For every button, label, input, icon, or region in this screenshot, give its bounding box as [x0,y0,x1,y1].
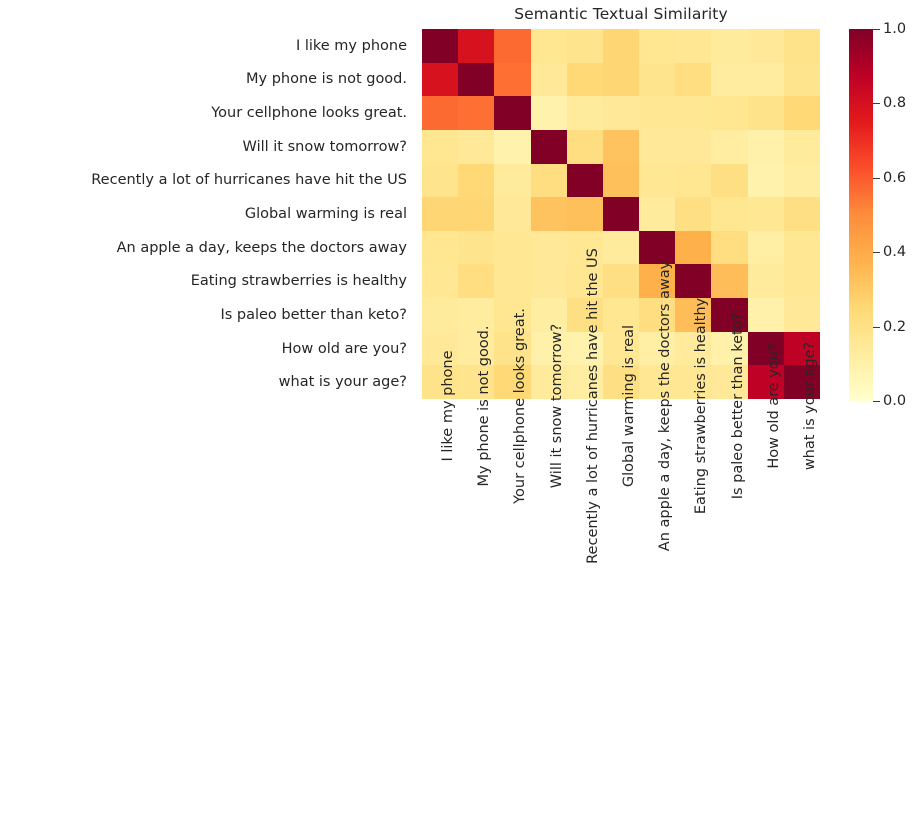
heatmap-cell [567,164,603,198]
heatmap-cell [458,197,494,231]
x-axis-tick-label: Is paleo better than keto? [730,313,746,500]
heatmap-cell [711,29,747,63]
heatmap-cell [494,29,530,63]
heatmap-cell [639,130,675,164]
colorbar-tick-label: 0.4 [883,244,906,260]
heatmap-cell [603,63,639,97]
y-axis-tick-label: Recently a lot of hurricanes have hit th… [0,164,415,198]
heatmap-cell [711,164,747,198]
heatmap-cell [494,231,530,265]
heatmap-cell [748,63,784,97]
heatmap-cell [422,164,458,198]
y-axis-labels: I like my phoneMy phone is not good.Your… [0,29,415,399]
heatmap-cell [531,164,567,198]
heatmap-cell [494,96,530,130]
heatmap-cell [639,29,675,63]
x-axis-tick-label: Global warming is real [621,325,637,487]
heatmap-cell [422,96,458,130]
colorbar-tick [873,327,880,328]
heatmap-cell [675,164,711,198]
heatmap-cell [784,29,820,63]
heatmap-cell [784,298,820,332]
x-axis-tick-slot: Eating strawberries is healthy [675,399,711,659]
heatmap-cell [639,63,675,97]
heatmap-cell [422,264,458,298]
heatmap-cell [458,130,494,164]
heatmap-cell [458,96,494,130]
heatmap-cell [494,264,530,298]
heatmap-cell [639,96,675,130]
heatmap-cell [784,130,820,164]
heatmap-cell [531,197,567,231]
heatmap-cell [494,63,530,97]
heatmap-cell [748,197,784,231]
heatmap-cell [458,231,494,265]
heatmap-cell [458,264,494,298]
x-axis-tick-slot: Global warming is real [603,399,639,659]
heatmap-cell [531,96,567,130]
heatmap-cell [422,197,458,231]
heatmap-cell [748,264,784,298]
heatmap-cell [748,29,784,63]
y-axis-tick-label: An apple a day, keeps the doctors away [0,231,415,265]
heatmap-cell [567,29,603,63]
x-axis-tick-slot: Your cellphone looks great. [494,399,530,659]
x-axis-tick-label: How old are you? [766,343,782,468]
heatmap-cell [603,197,639,231]
heatmap-cell [531,264,567,298]
heatmap-cell [603,130,639,164]
heatmap-cell [603,96,639,130]
colorbar-tick-label: 1.0 [883,21,906,37]
colorbar-tick [873,252,880,253]
heatmap-cell [711,231,747,265]
colorbar-tick [873,103,880,104]
colorbar-tick-label: 0.0 [883,393,906,409]
heatmap-cell [494,164,530,198]
x-axis-tick-slot: My phone is not good. [458,399,494,659]
heatmap-cell [422,63,458,97]
y-axis-tick-label: I like my phone [0,29,415,63]
heatmap-cell [748,231,784,265]
heatmap-cell [458,164,494,198]
heatmap-cell [748,130,784,164]
heatmap-cell [567,63,603,97]
heatmap-cell [531,130,567,164]
y-axis-tick-label: Will it snow tomorrow? [0,130,415,164]
heatmap-cell [531,29,567,63]
x-axis-tick-label: I like my phone [440,350,456,461]
colorbar-tick-label: 0.8 [883,95,906,111]
x-axis-tick-label: Recently a lot of hurricanes have hit th… [585,248,601,564]
heatmap-cell [784,264,820,298]
heatmap-cell [675,130,711,164]
heatmap-cell [567,130,603,164]
y-axis-tick-label: what is your age? [0,365,415,399]
x-axis-tick-label: My phone is not good. [476,326,492,487]
y-axis-tick-label: Global warming is real [0,197,415,231]
heatmap-cell [603,264,639,298]
heatmap-cell [748,96,784,130]
heatmap-cell [458,63,494,97]
heatmap-cell [422,298,458,332]
heatmap-cell [711,197,747,231]
colorbar-tick-label: 0.6 [883,170,906,186]
heatmap-cell [711,96,747,130]
heatmap-cell [494,130,530,164]
x-axis-tick-slot: How old are you? [748,399,784,659]
page-title: Semantic Textual Similarity [422,5,820,23]
heatmap-cell [711,264,747,298]
heatmap-cell [711,130,747,164]
x-axis-tick-slot: what is your age? [784,399,820,659]
x-axis-tick-label: Will it snow tomorrow? [549,324,565,488]
heatmap-cell [603,164,639,198]
x-axis-labels: I like my phoneMy phone is not good.Your… [422,399,820,659]
heatmap-cell [494,197,530,231]
x-axis-tick-slot: Recently a lot of hurricanes have hit th… [567,399,603,659]
heatmap-cell [639,197,675,231]
x-axis-tick-label: An apple a day, keeps the doctors away [657,261,673,551]
heatmap-cell [422,231,458,265]
heatmap-cell [422,29,458,63]
heatmap-cell [458,29,494,63]
heatmap-cell [531,231,567,265]
heatmap-cell [784,231,820,265]
x-axis-tick-label: Eating strawberries is healthy [693,298,709,514]
heatmap-cell [748,298,784,332]
heatmap-cell [639,164,675,198]
x-axis-tick-slot: Will it snow tomorrow? [531,399,567,659]
heatmap-cell [567,96,603,130]
x-axis-tick-label: what is your age? [802,342,818,470]
colorbar-tick [873,401,880,402]
x-axis-tick-slot: Is paleo better than keto? [711,399,747,659]
heatmap-cell [675,264,711,298]
x-axis-tick-slot: An apple a day, keeps the doctors away [639,399,675,659]
heatmap-cell [748,164,784,198]
y-axis-tick-label: Your cellphone looks great. [0,96,415,130]
heatmap-cell [603,231,639,265]
heatmap-cell [531,63,567,97]
colorbar-gradient [849,29,873,401]
heatmap-cell [675,63,711,97]
colorbar: 1.00.80.60.40.20.0 [849,29,915,401]
heatmap-figure: Semantic Textual Similarity I like my ph… [0,0,915,826]
y-axis-tick-label: Is paleo better than keto? [0,298,415,332]
heatmap-cell [675,29,711,63]
heatmap-cell [784,197,820,231]
heatmap-cell [639,231,675,265]
heatmap-cell [603,29,639,63]
colorbar-tick [873,178,880,179]
y-axis-tick-label: Eating strawberries is healthy [0,264,415,298]
heatmap-cell [675,231,711,265]
heatmap-cell [784,164,820,198]
y-axis-tick-label: How old are you? [0,332,415,366]
heatmap-cell [675,96,711,130]
heatmap-cell [567,197,603,231]
x-axis-tick-slot: I like my phone [422,399,458,659]
colorbar-tick-label: 0.2 [883,319,906,335]
heatmap-cell [711,63,747,97]
heatmap-cell [784,96,820,130]
heatmap-cell [784,63,820,97]
x-axis-tick-label: Your cellphone looks great. [512,308,528,504]
heatmap-cell [422,130,458,164]
y-axis-tick-label: My phone is not good. [0,63,415,97]
heatmap-cell [675,197,711,231]
colorbar-tick [873,29,880,30]
